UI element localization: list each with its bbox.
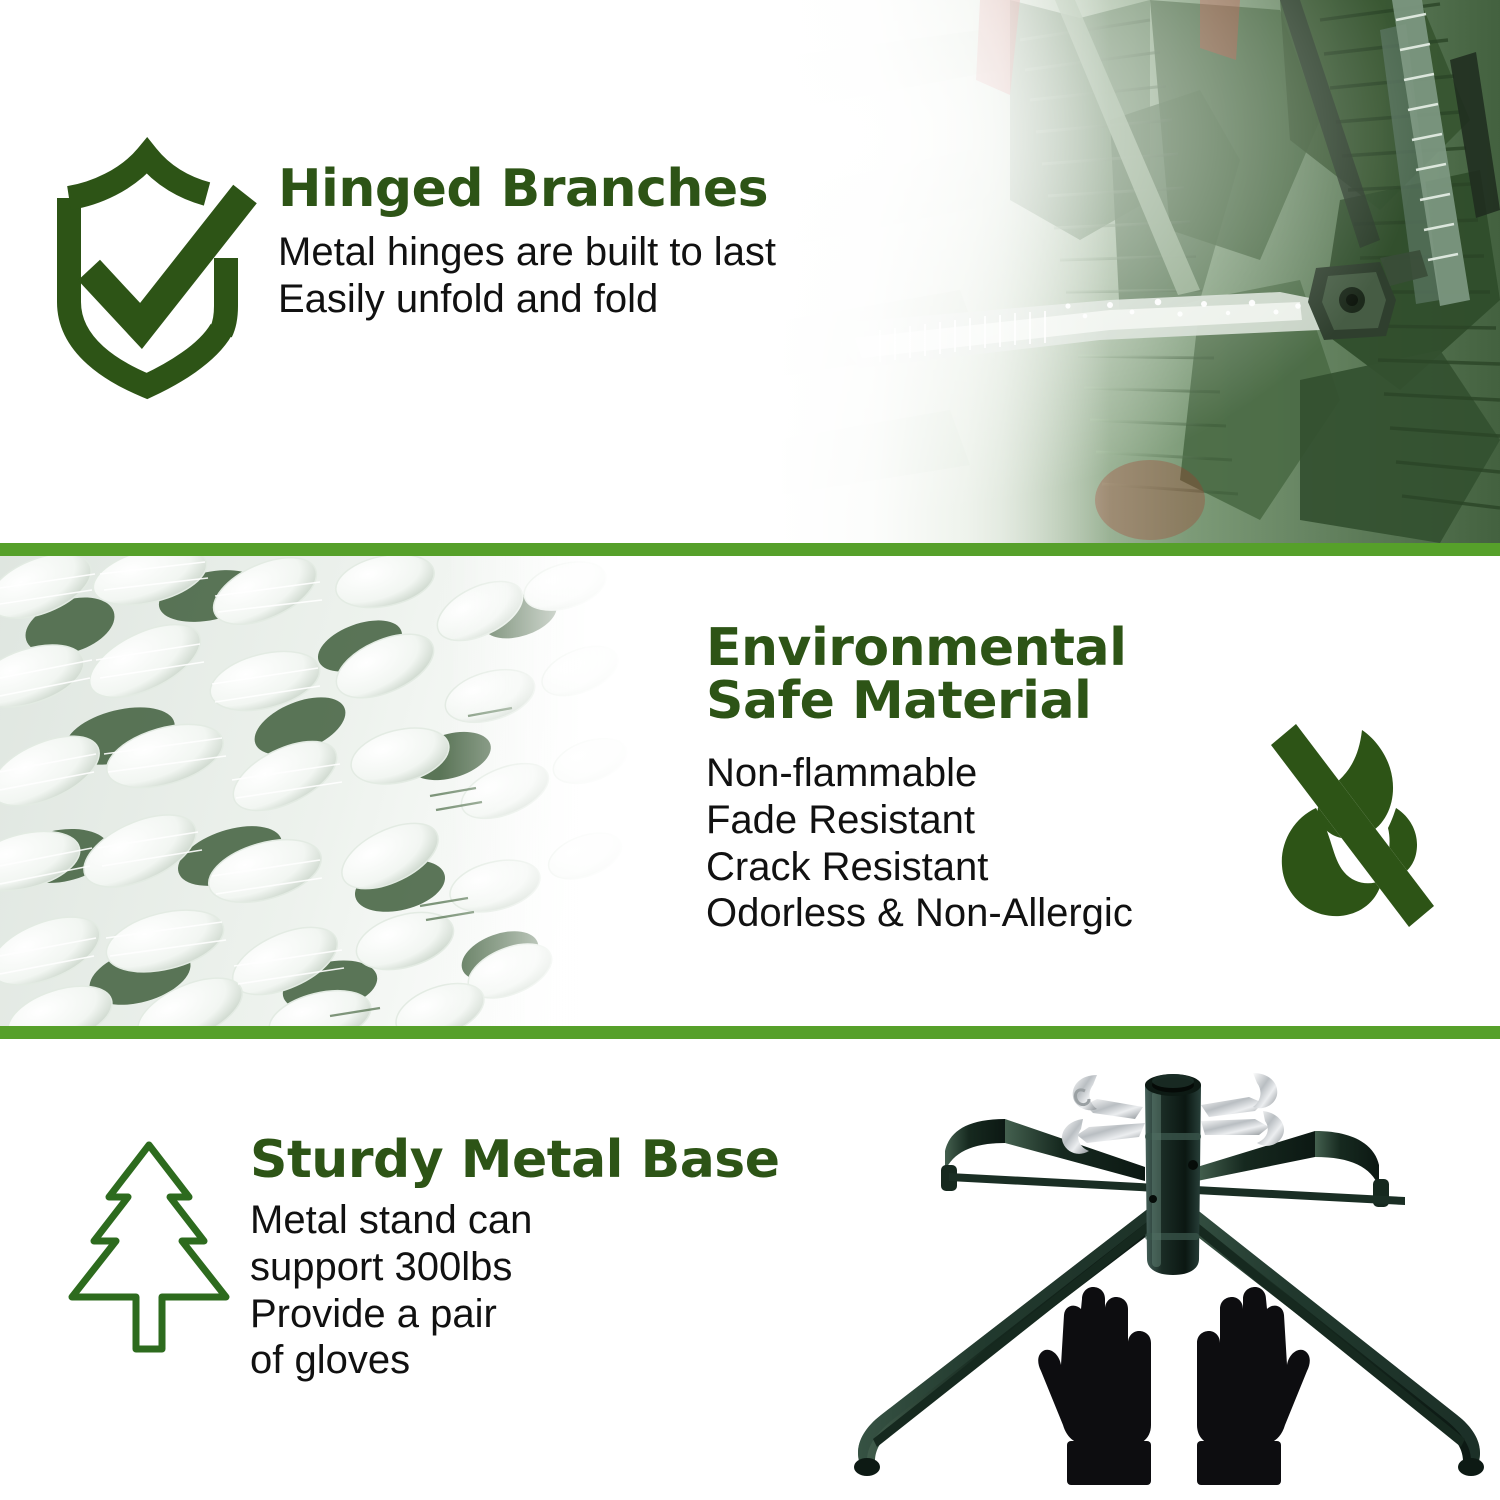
sturdy-base-body: Metal stand can support 300lbs Provide a… [250, 1197, 780, 1384]
hinged-branches-body: Metal hinges are built to last Easily un… [278, 229, 776, 323]
section-hinged-branches: Hinged Branches Metal hinges are built t… [0, 0, 1500, 543]
photo-right-fade [440, 556, 680, 1026]
shield-check-icon [55, 150, 270, 390]
environmental-heading: Environmental Safe Material [706, 622, 1133, 728]
sturdy-base-heading: Sturdy Metal Base [250, 1134, 780, 1187]
christmas-tree-outline-icon [58, 1137, 240, 1362]
environmental-text-block: Environmental Safe Material Non-flammabl… [706, 622, 1133, 937]
infographic-page: Hinged Branches Metal hinges are built t… [0, 0, 1500, 1500]
hinged-branches-text-block: Hinged Branches Metal hinges are built t… [278, 163, 776, 323]
metal-tree-stand-with-gloves-photo [845, 1047, 1500, 1500]
hinged-branch-closeup-photo [680, 0, 1500, 543]
section-divider-1 [0, 543, 1500, 556]
sturdy-base-text-block: Sturdy Metal Base Metal stand can suppor… [250, 1134, 780, 1384]
section-sturdy-metal-base: Sturdy Metal Base Metal stand can suppor… [0, 1039, 1500, 1500]
section-divider-2 [0, 1026, 1500, 1039]
no-flame-icon [1258, 722, 1448, 934]
section-environmental-safe-material: Environmental Safe Material Non-flammabl… [0, 556, 1500, 1026]
environmental-body: Non-flammable Fade Resistant Crack Resis… [706, 750, 1133, 937]
snow-flocked-tree-photo [0, 556, 680, 1026]
hinged-branches-heading: Hinged Branches [278, 163, 776, 216]
